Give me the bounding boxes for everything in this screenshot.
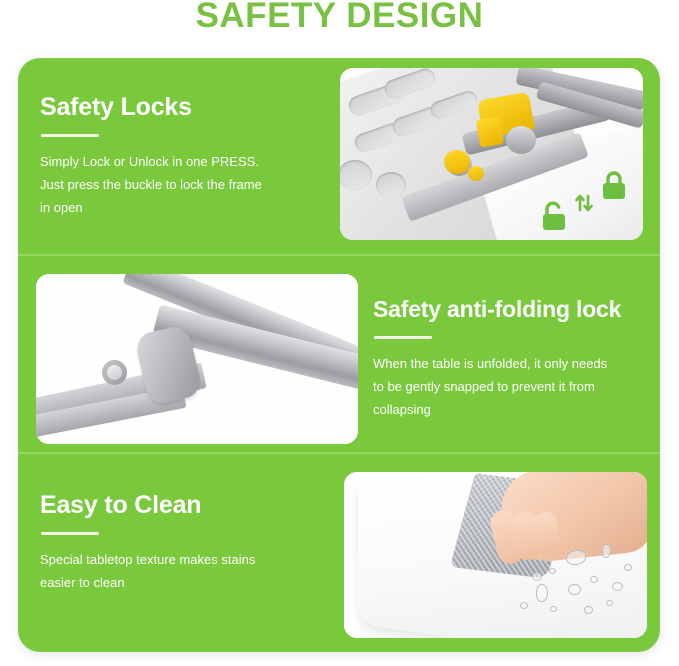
hinge-pin bbox=[506, 126, 536, 154]
water-droplet bbox=[612, 582, 623, 591]
water-droplet bbox=[590, 576, 598, 583]
section-2-body-line-3: collapsing bbox=[373, 398, 643, 421]
section-3-rule bbox=[41, 532, 99, 535]
section-1-text: Safety Locks Simply Lock or Unlock in on… bbox=[40, 92, 330, 219]
page-title: SAFETY DESIGN bbox=[0, 0, 679, 38]
section-1-body-line-1: Simply Lock or Unlock in one PRESS. bbox=[40, 150, 330, 173]
section-3-text: Easy to Clean Special tabletop texture m… bbox=[40, 490, 330, 594]
section-2-body-line-1: When the table is unfolded, it only need… bbox=[373, 352, 643, 375]
section-anti-folding-lock: Safety anti-folding lock When the table … bbox=[18, 256, 660, 454]
anti-folding-lock-photo-inner bbox=[36, 274, 358, 444]
anti-folding-lock-photo bbox=[36, 274, 358, 444]
section-3-body-line-2: easier to clean bbox=[40, 571, 330, 594]
water-droplet bbox=[606, 600, 613, 606]
section-2-body: When the table is unfolded, it only need… bbox=[373, 352, 643, 421]
lock-icon bbox=[599, 170, 629, 202]
water-droplet bbox=[584, 606, 593, 614]
yellow-pin-small bbox=[468, 166, 484, 181]
section-easy-to-clean: Easy to Clean Special tabletop texture m… bbox=[18, 454, 660, 652]
yellow-buckle-body bbox=[476, 116, 504, 148]
section-1-body-line-3: in open bbox=[40, 196, 330, 219]
water-droplet bbox=[550, 606, 557, 612]
lock-mechanism-photo bbox=[340, 68, 643, 240]
section-1-body: Simply Lock or Unlock in one PRESS. Just… bbox=[40, 150, 330, 219]
section-3-heading: Easy to Clean bbox=[40, 490, 330, 520]
section-1-heading: Safety Locks bbox=[40, 92, 330, 122]
rivet-inner bbox=[107, 365, 122, 380]
easy-clean-photo bbox=[344, 472, 647, 638]
features-board: Safety Locks Simply Lock or Unlock in on… bbox=[18, 58, 660, 652]
water-droplet bbox=[568, 584, 581, 595]
section-3-body: Special tabletop texture makes stains ea… bbox=[40, 548, 330, 594]
unlock-icon bbox=[539, 200, 569, 232]
section-2-text: Safety anti-folding lock When the table … bbox=[373, 294, 643, 421]
finger bbox=[533, 512, 558, 555]
easy-clean-photo-inner bbox=[344, 472, 647, 638]
yellow-pin bbox=[444, 150, 470, 174]
water-droplet bbox=[520, 602, 528, 609]
section-3-body-line-1: Special tabletop texture makes stains bbox=[40, 548, 330, 571]
water-droplet bbox=[532, 572, 542, 581]
section-1-rule bbox=[41, 134, 99, 137]
section-2-heading: Safety anti-folding lock bbox=[373, 294, 643, 324]
lock-unlock-icon-group bbox=[539, 170, 631, 232]
section-2-body-line-2: to be gently snapped to prevent it from bbox=[373, 375, 643, 398]
section-1-body-line-2: Just press the buckle to lock the frame bbox=[40, 173, 330, 196]
plate-hole bbox=[376, 172, 406, 198]
up-down-arrows-icon bbox=[573, 190, 597, 216]
water-droplet bbox=[624, 564, 632, 571]
lock-mechanism-photo-inner bbox=[340, 68, 643, 240]
section-safety-locks: Safety Locks Simply Lock or Unlock in on… bbox=[18, 58, 660, 256]
infographic-page: SAFETY DESIGN Safety Locks Simply Lock o… bbox=[0, 0, 679, 666]
water-droplet bbox=[549, 568, 556, 574]
section-2-rule bbox=[374, 336, 432, 339]
